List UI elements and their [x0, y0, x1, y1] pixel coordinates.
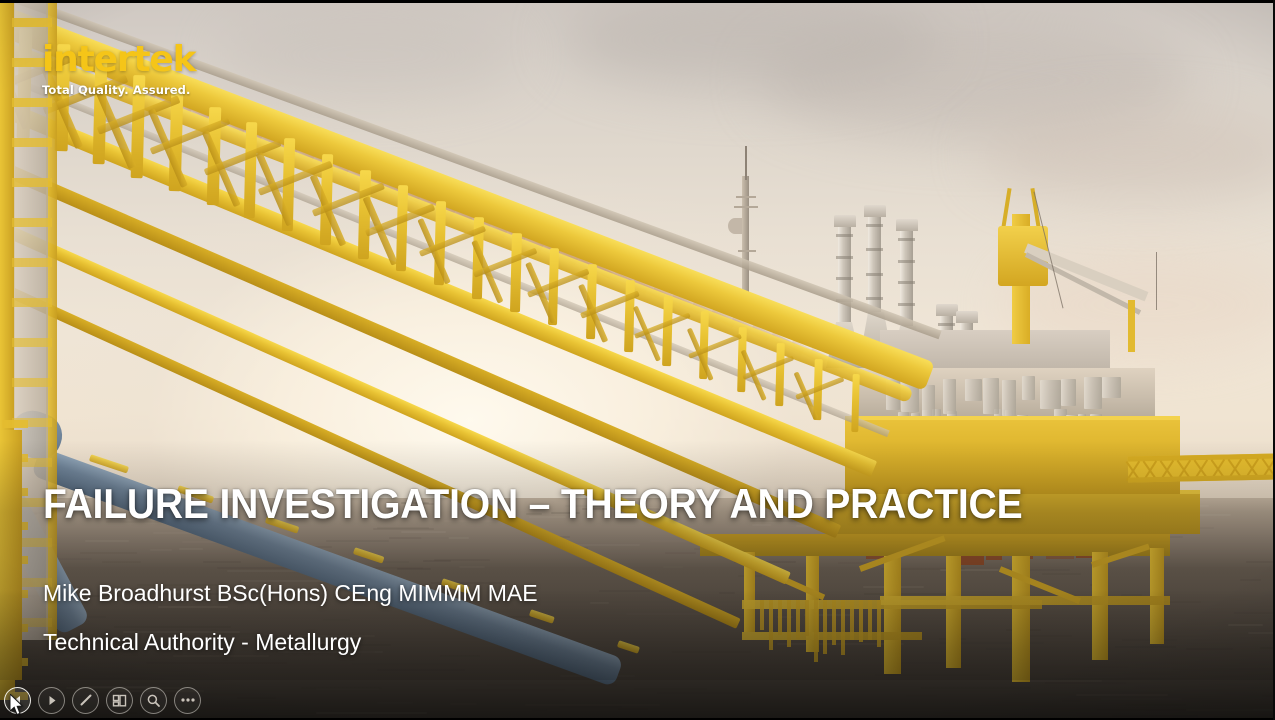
sea-ripple — [1115, 646, 1176, 648]
logo-wordmark: intertek — [42, 42, 195, 78]
previous-triangle-icon — [11, 694, 24, 707]
bridge-post — [775, 343, 784, 406]
tower-rung — [12, 378, 52, 387]
intertek-logo: intertek Total Quality. Assured. — [42, 42, 195, 97]
tower-rung — [12, 178, 52, 187]
equipment-module — [1102, 377, 1121, 398]
tower-lower-rung — [2, 420, 28, 428]
magnifier-icon — [146, 693, 161, 708]
previous-slide-button[interactable] — [4, 687, 31, 714]
tower-rung — [12, 338, 52, 347]
more-options-button[interactable] — [174, 687, 201, 714]
bridge-post — [396, 185, 409, 272]
right-truss-bridge — [1128, 453, 1275, 482]
equipment-module — [1061, 379, 1076, 407]
sea-ripple — [1234, 612, 1275, 614]
crane-hoist-line — [1156, 252, 1157, 310]
zoom-button[interactable] — [140, 687, 167, 714]
crane-support-post — [1128, 300, 1135, 352]
presenter-role: Technical Authority - Metallurgy — [43, 631, 1043, 654]
sea-ripple — [173, 655, 268, 657]
pen-icon — [78, 692, 94, 708]
bridge-post — [662, 296, 672, 366]
sea-ripple — [146, 662, 287, 664]
frame-edge-top — [0, 0, 1275, 3]
tower-rung — [12, 18, 52, 27]
tower-rung — [12, 258, 52, 267]
title-block: FAILURE INVESTIGATION – THEORY AND PRACT… — [43, 478, 1043, 654]
tower-base-column — [0, 430, 22, 680]
tower-rung — [12, 298, 52, 307]
slide-layout-button[interactable] — [106, 687, 133, 714]
play-button[interactable] — [38, 687, 65, 714]
presenter-name: Mike Broadhurst BSc(Hons) CEng MIMMM MAE — [43, 582, 1043, 605]
player-toolbar[interactable] — [0, 680, 1275, 720]
sea-ripple — [377, 669, 465, 671]
page-title: FAILURE INVESTIGATION – THEORY AND PRACT… — [43, 478, 973, 530]
bridge-post — [510, 233, 522, 313]
pen-button[interactable] — [72, 687, 99, 714]
logo-tagline: Total Quality. Assured. — [42, 85, 195, 97]
bridge-post — [624, 280, 635, 353]
tower-rung — [12, 98, 52, 107]
slide-layout-icon — [112, 693, 127, 708]
platform-leg — [1092, 552, 1108, 660]
tower-rung — [12, 138, 52, 147]
sea-ripple — [1246, 561, 1275, 563]
tower-rung — [12, 218, 52, 227]
presentation-slide: intertek Total Quality. Assured. FAILURE… — [0, 0, 1275, 720]
sea-ripple — [1173, 668, 1275, 670]
ellipsis-icon — [180, 697, 196, 703]
play-triangle-icon — [45, 694, 58, 707]
sea-ripple — [352, 663, 457, 665]
sea-ripple — [1186, 648, 1233, 650]
sea-ripple — [1015, 666, 1128, 668]
equipment-module — [1084, 377, 1102, 409]
